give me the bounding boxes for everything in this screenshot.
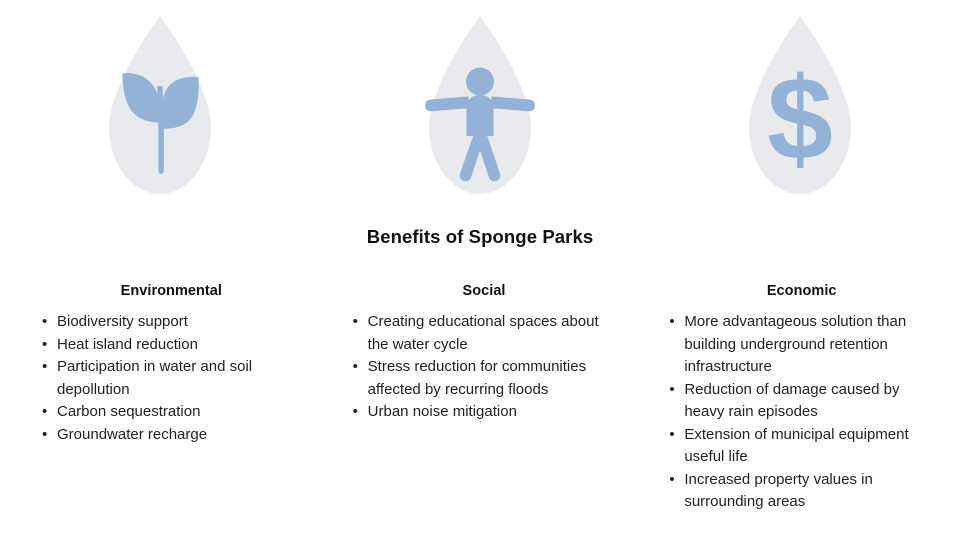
list-item: Biodiversity support [36, 311, 311, 334]
list-item: Heat island reduction [36, 334, 311, 357]
slide: $ Benefits of Sponge Parks Environmental… [0, 0, 960, 540]
benefits-columns: Environmental Biodiversity support Heat … [0, 283, 960, 514]
list-item: Groundwater recharge [36, 424, 311, 447]
column-environmental: Environmental Biodiversity support Heat … [0, 283, 329, 446]
icon-row: $ [0, 0, 960, 210]
icon-cell-environmental [0, 0, 320, 210]
list-item: Creating educational spaces about the wa… [347, 311, 622, 356]
column-heading-environmental: Environmental [36, 283, 311, 299]
benefit-list-economic: More advantageous solution than building… [663, 311, 938, 514]
page-title: Benefits of Sponge Parks [0, 226, 960, 248]
list-item: Stress reduction for communities affecte… [347, 356, 622, 401]
benefit-list-social: Creating educational spaces about the wa… [347, 311, 622, 424]
column-economic: Economic More advantageous solution than… [641, 283, 960, 514]
droplet-person [419, 14, 541, 196]
column-heading-social: Social [347, 283, 622, 299]
list-item: Urban noise mitigation [347, 401, 622, 424]
icon-cell-economic: $ [640, 0, 960, 210]
list-item: Extension of municipal equipment useful … [663, 424, 938, 469]
list-item: Increased property values in surrounding… [663, 469, 938, 514]
svg-text:$: $ [767, 53, 833, 185]
list-item: Carbon sequestration [36, 401, 311, 424]
list-item: Reduction of damage caused by heavy rain… [663, 379, 938, 424]
droplet-sprout [99, 14, 221, 196]
benefit-list-environmental: Biodiversity support Heat island reducti… [36, 311, 311, 446]
droplet-dollar: $ [739, 14, 861, 196]
column-heading-economic: Economic [663, 283, 938, 299]
list-item: Participation in water and soil depollut… [36, 356, 311, 401]
list-item: More advantageous solution than building… [663, 311, 938, 379]
dollar-icon: $ [767, 53, 833, 185]
icon-cell-social [320, 0, 640, 210]
column-social: Social Creating educational spaces about… [329, 283, 642, 424]
